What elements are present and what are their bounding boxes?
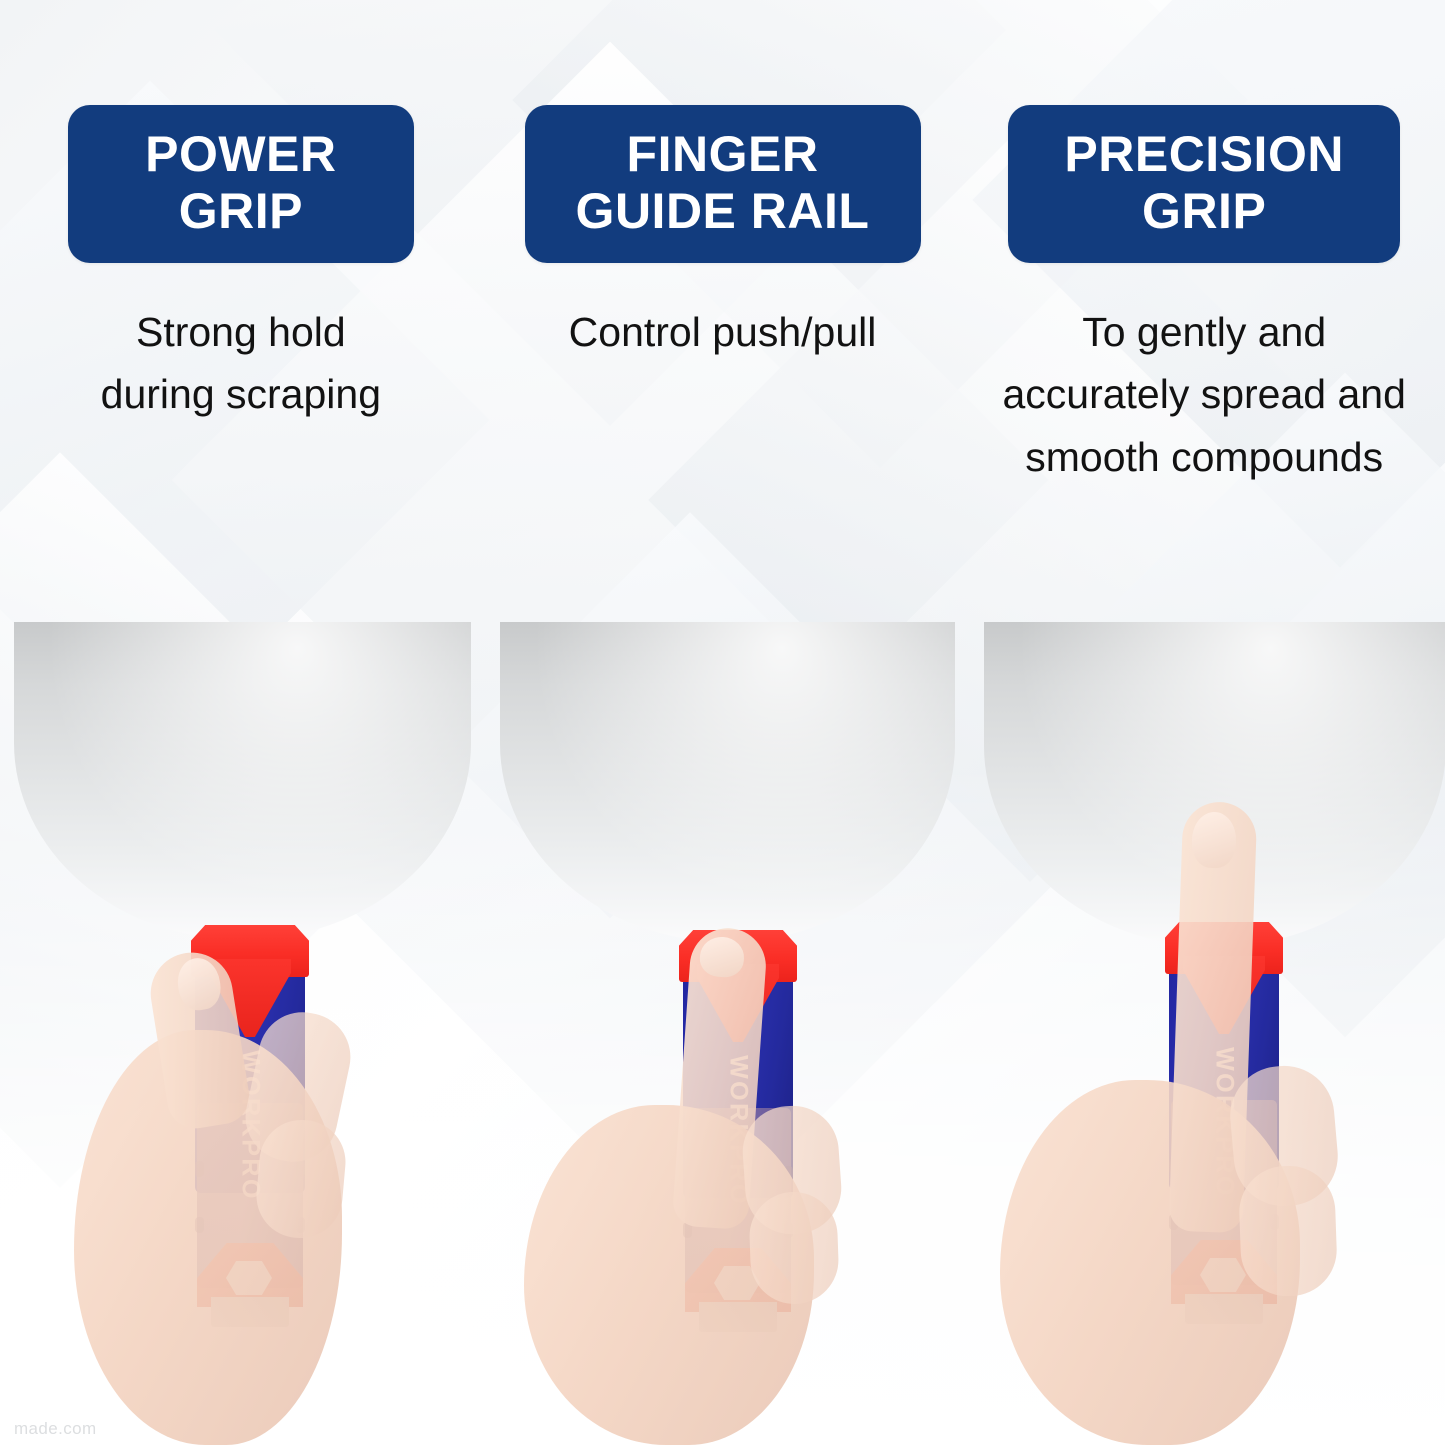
grip-notch [1169,1158,1178,1174]
grip-notch [1270,1158,1279,1174]
grip-notch [1270,1214,1279,1230]
badge-precision-grip: PRECISION GRIP [1008,105,1400,263]
blade-highlight [984,622,1445,947]
badge-power-grip: POWER GRIP [68,105,414,263]
putty-knife-blade [984,622,1445,947]
blade-tang [699,1302,777,1332]
product-photo-row: WORKPRO [0,600,1445,1445]
product-image-finger-guide-rail: WORKPRO [482,600,964,1445]
caption-power-grip: Strong hold during scraping [101,301,381,426]
grip-notch [683,1222,692,1238]
putty-knife-handle: WORKPRO [1165,922,1283,1312]
badge-finger-guide-rail: FINGER GUIDE RAIL [525,105,921,263]
putty-knife-handle: WORKPRO [191,925,309,1315]
product-image-precision-grip: WORKPRO [964,600,1445,1445]
product-infographic: POWER GRIP Strong hold during scraping F… [0,0,1445,1445]
putty-knife-blade [14,622,471,940]
brand-label: WORKPRO [724,1055,753,1206]
putty-knife-handle: WORKPRO [679,930,797,1320]
grip-notch [784,1222,793,1238]
grip-notch [195,1217,204,1233]
feature-row: POWER GRIP Strong hold during scraping F… [0,0,1445,600]
feature-finger-guide-rail: FINGER GUIDE RAIL Control push/pull [482,0,964,600]
feature-power-grip: POWER GRIP Strong hold during scraping [0,0,482,600]
grip-notch [1169,1214,1178,1230]
blade-highlight [14,622,471,940]
grip-notch [296,1217,305,1233]
caption-precision-grip: To gently and accurately spread and smoo… [1002,301,1405,488]
grip-notch [784,1166,793,1182]
product-image-power-grip: WORKPRO [0,600,482,1445]
brand-label: WORKPRO [1210,1047,1239,1198]
brand-label: WORKPRO [236,1050,265,1201]
grip-notch [195,1161,204,1177]
blade-tang [1185,1294,1263,1324]
blade-tang [211,1297,289,1327]
caption-finger-guide-rail: Control push/pull [569,301,877,363]
feature-precision-grip: PRECISION GRIP To gently and accurately … [963,0,1445,600]
blade-highlight [500,622,955,942]
watermark: made.com [14,1419,97,1439]
grip-notch [683,1166,692,1182]
putty-knife-blade [500,622,955,942]
grip-notch [296,1161,305,1177]
